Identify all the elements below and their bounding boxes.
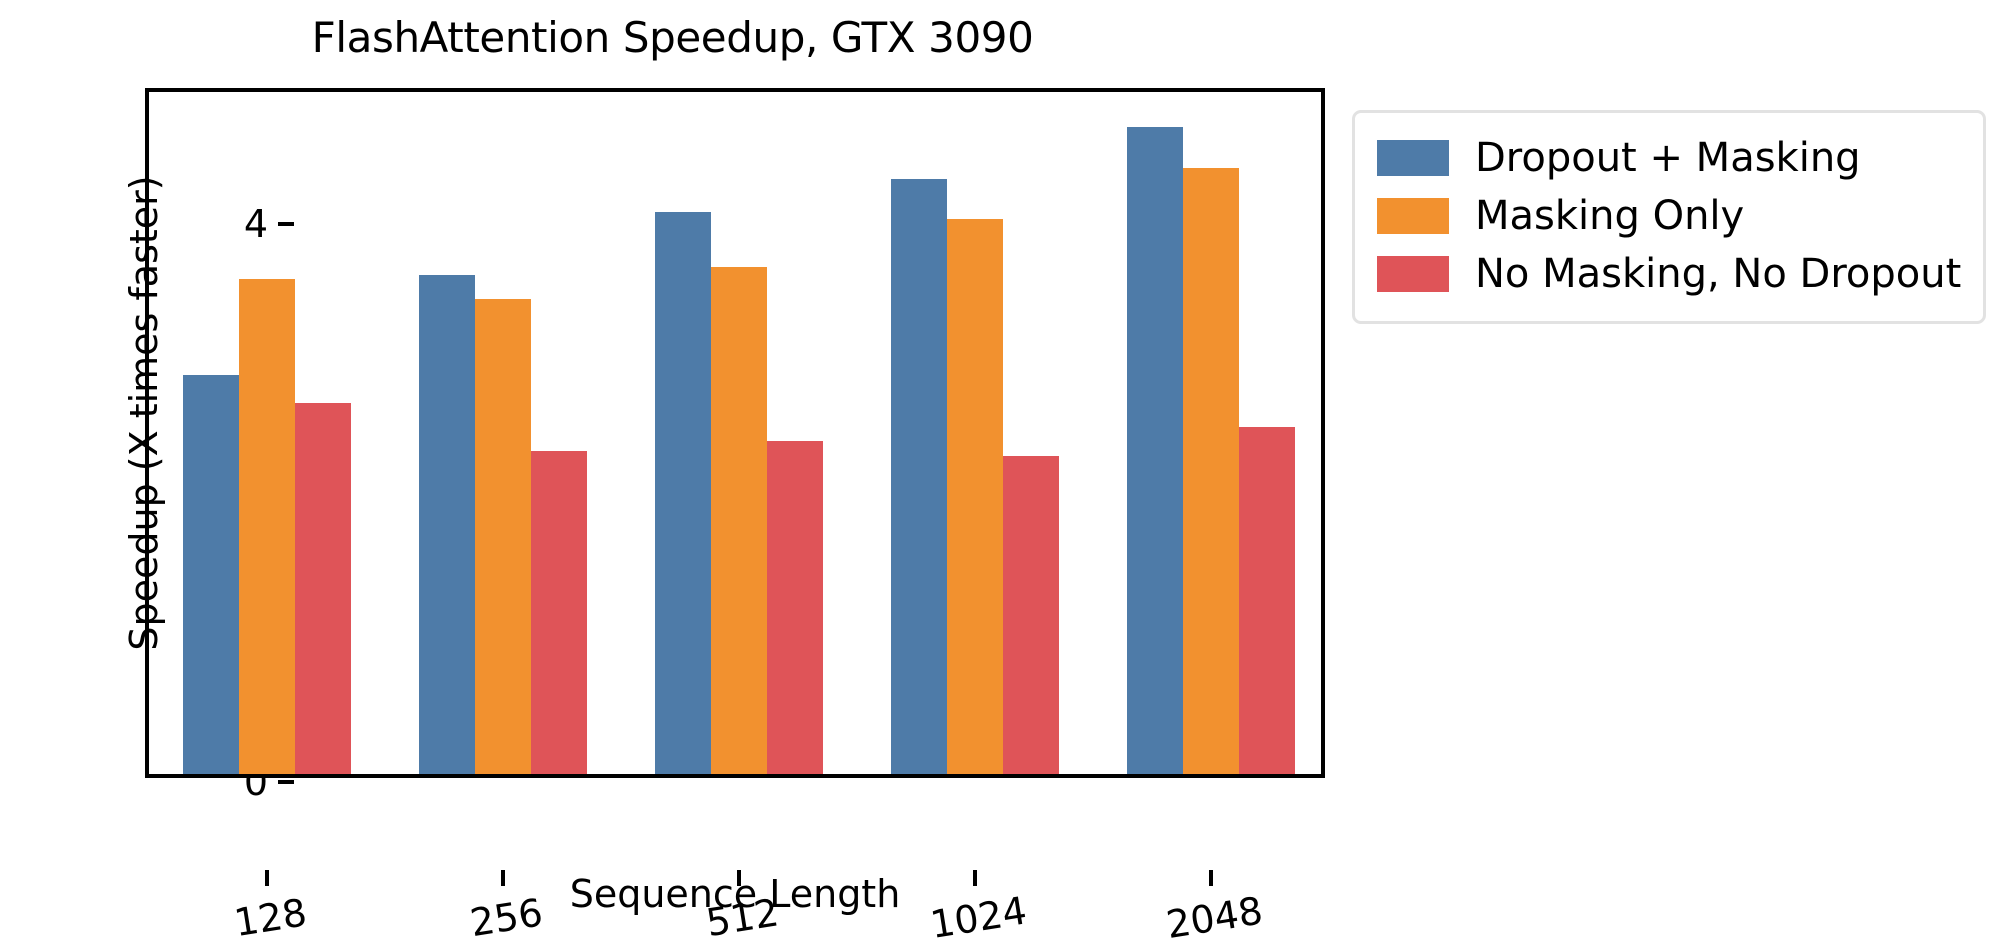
- bar-256-series-1: [475, 299, 531, 774]
- bar-128-series-0: [183, 375, 239, 774]
- y-axis-label: Speedup (X times faster): [123, 63, 165, 763]
- bar-128-series-2: [295, 403, 351, 774]
- bar-1024-series-1: [947, 219, 1003, 774]
- legend-item-1[interactable]: Masking Only: [1377, 187, 1961, 245]
- bar-128-series-1: [239, 279, 295, 774]
- chart-title: FlashAttention Speedup, GTX 3090: [0, 14, 1345, 62]
- chart-figure: FlashAttention Speedup, GTX 3090 Speedup…: [0, 0, 2013, 932]
- legend-label: No Masking, No Dropout: [1475, 252, 1961, 296]
- bar-1024-series-2: [1003, 456, 1059, 774]
- legend-swatch-icon: [1377, 140, 1449, 176]
- legend-swatch-icon: [1377, 256, 1449, 292]
- bar-512-series-2: [767, 441, 823, 774]
- plot-area: Speedup (X times faster) 01234 128256512…: [145, 88, 1325, 778]
- chart-legend: Dropout + MaskingMasking OnlyNo Masking,…: [1352, 110, 1986, 324]
- bar-2048-series-0: [1127, 127, 1183, 774]
- y-tick-mark: [278, 222, 294, 226]
- bar-512-series-0: [655, 212, 711, 774]
- legend-label: Masking Only: [1475, 194, 1744, 238]
- y-tick-label: 4: [244, 198, 268, 250]
- bar-256-series-0: [419, 275, 475, 774]
- bar-2048-series-2: [1239, 427, 1295, 774]
- legend-swatch-icon: [1377, 198, 1449, 234]
- x-axis-label: Sequence Length: [145, 872, 1325, 916]
- legend-item-2[interactable]: No Masking, No Dropout: [1377, 245, 1961, 303]
- bar-512-series-1: [711, 267, 767, 774]
- bar-256-series-2: [531, 451, 587, 774]
- bar-2048-series-1: [1183, 168, 1239, 774]
- legend-item-0[interactable]: Dropout + Masking: [1377, 129, 1961, 187]
- legend-label: Dropout + Masking: [1475, 136, 1861, 180]
- bar-1024-series-0: [891, 179, 947, 774]
- y-tick-mark: [278, 780, 294, 784]
